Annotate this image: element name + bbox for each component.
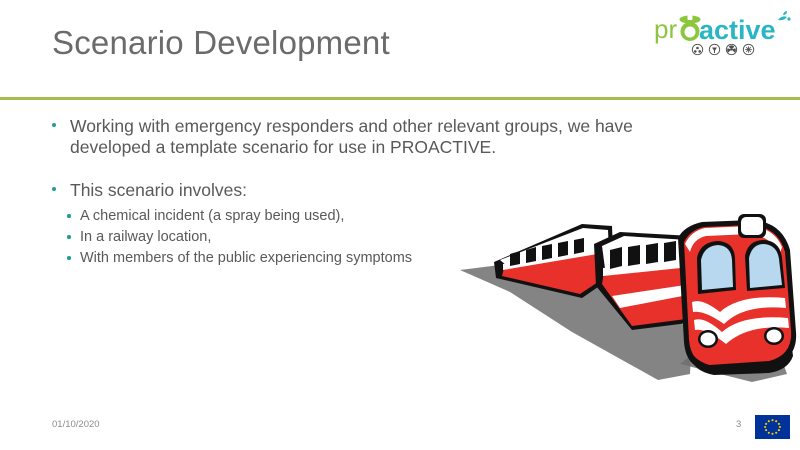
radiological-hazard-icon xyxy=(726,44,736,54)
bullet-item: This scenario involves: xyxy=(48,180,648,201)
bullet-text: Working with emergency responders and ot… xyxy=(70,116,648,158)
sub-bullet-text: A chemical incident (a spray being used)… xyxy=(80,208,344,224)
biological-hazard-icon xyxy=(692,44,702,54)
chemical-hazard-icon xyxy=(709,44,719,54)
explosive-hazard-icon xyxy=(743,44,753,54)
slide-number: 3 xyxy=(736,419,741,430)
bullet-dot-icon xyxy=(52,187,56,191)
proactive-logo: pr active xyxy=(652,10,794,60)
roof-light xyxy=(738,214,766,238)
windscreen-left xyxy=(697,241,736,294)
bullet-dot-icon xyxy=(67,214,71,218)
presentation-slide: Scenario Development pr active xyxy=(0,0,800,450)
sub-bullet-text: With members of the public experiencing … xyxy=(80,250,412,266)
european-union-flag xyxy=(755,415,790,439)
footer-date: 01/10/2020 xyxy=(52,419,100,430)
bullet-text: This scenario involves: xyxy=(70,180,648,201)
page-title: Scenario Development xyxy=(52,24,390,62)
svg-text:active: active xyxy=(699,15,776,45)
bullet-dot-icon xyxy=(52,123,56,127)
bullet-dot-icon xyxy=(67,235,71,239)
bullet-dot-icon xyxy=(67,256,71,260)
sub-bullet-text: In a railway location, xyxy=(80,229,211,245)
bullet-item: Working with emergency responders and ot… xyxy=(48,116,648,158)
red-train-illustration xyxy=(452,214,800,396)
bullet-spacer xyxy=(48,158,648,180)
title-divider xyxy=(0,97,800,100)
svg-text:pr: pr xyxy=(654,14,677,44)
logo-o-badge xyxy=(680,15,701,41)
hazard-icons-row xyxy=(692,44,753,54)
logo-sparkle-icon xyxy=(778,11,791,21)
